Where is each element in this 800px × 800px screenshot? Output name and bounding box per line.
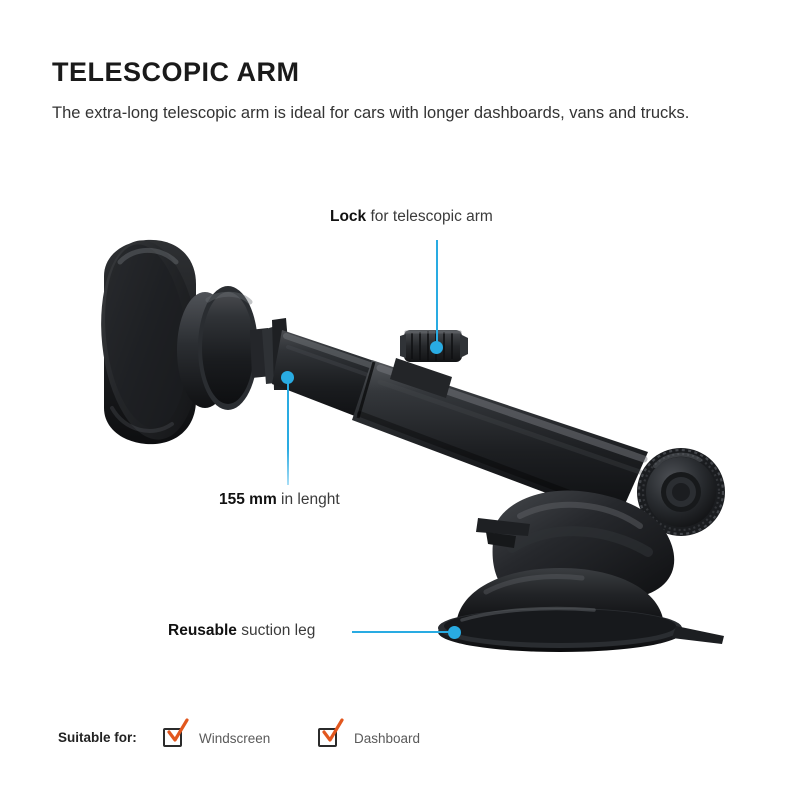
checkmark-icon — [322, 719, 344, 745]
suitable-for-label: Suitable for: — [58, 730, 137, 745]
telescopic-inner-tube — [262, 318, 392, 425]
callout-length: 155 mm in lenght — [219, 491, 340, 509]
leader-dot-length — [281, 371, 294, 384]
magnetic-disc-head — [92, 236, 208, 445]
callout-lock-bold: Lock — [330, 208, 366, 225]
leader-line-suction — [352, 631, 452, 633]
callout-suction-rest: suction leg — [237, 622, 315, 639]
leader-line-length — [287, 381, 289, 485]
release-tab — [672, 626, 724, 644]
callout-lock: Lock for telescopic arm — [330, 208, 493, 226]
callout-lock-rest: for telescopic arm — [366, 208, 493, 225]
knurled-pivot-wheel — [637, 448, 725, 536]
ball-joint — [177, 286, 272, 410]
callout-suction-bold: Reusable — [168, 622, 237, 639]
callout-length-bold: 155 mm — [219, 491, 277, 508]
leader-dot-lock — [430, 341, 443, 354]
callout-length-rest: in lenght — [277, 491, 340, 508]
leader-dot-suction — [448, 626, 461, 639]
telescopic-outer-tube — [352, 360, 648, 520]
suction-pedestal — [476, 490, 674, 598]
page-description: The extra-long telescopic arm is ideal f… — [52, 101, 692, 127]
page-title: TELESCOPIC ARM — [52, 58, 300, 88]
infographic-page: TELESCOPIC ARM The extra-long telescopic… — [0, 0, 800, 800]
option-dashboard-label: Dashboard — [354, 731, 420, 746]
option-windscreen-label: Windscreen — [199, 731, 270, 746]
lock-thumbscrew — [390, 330, 468, 398]
callout-suction: Reusable suction leg — [168, 622, 315, 640]
suction-cup-base — [438, 568, 724, 652]
leader-line-lock — [436, 240, 438, 348]
checkmark-icon — [167, 719, 189, 745]
